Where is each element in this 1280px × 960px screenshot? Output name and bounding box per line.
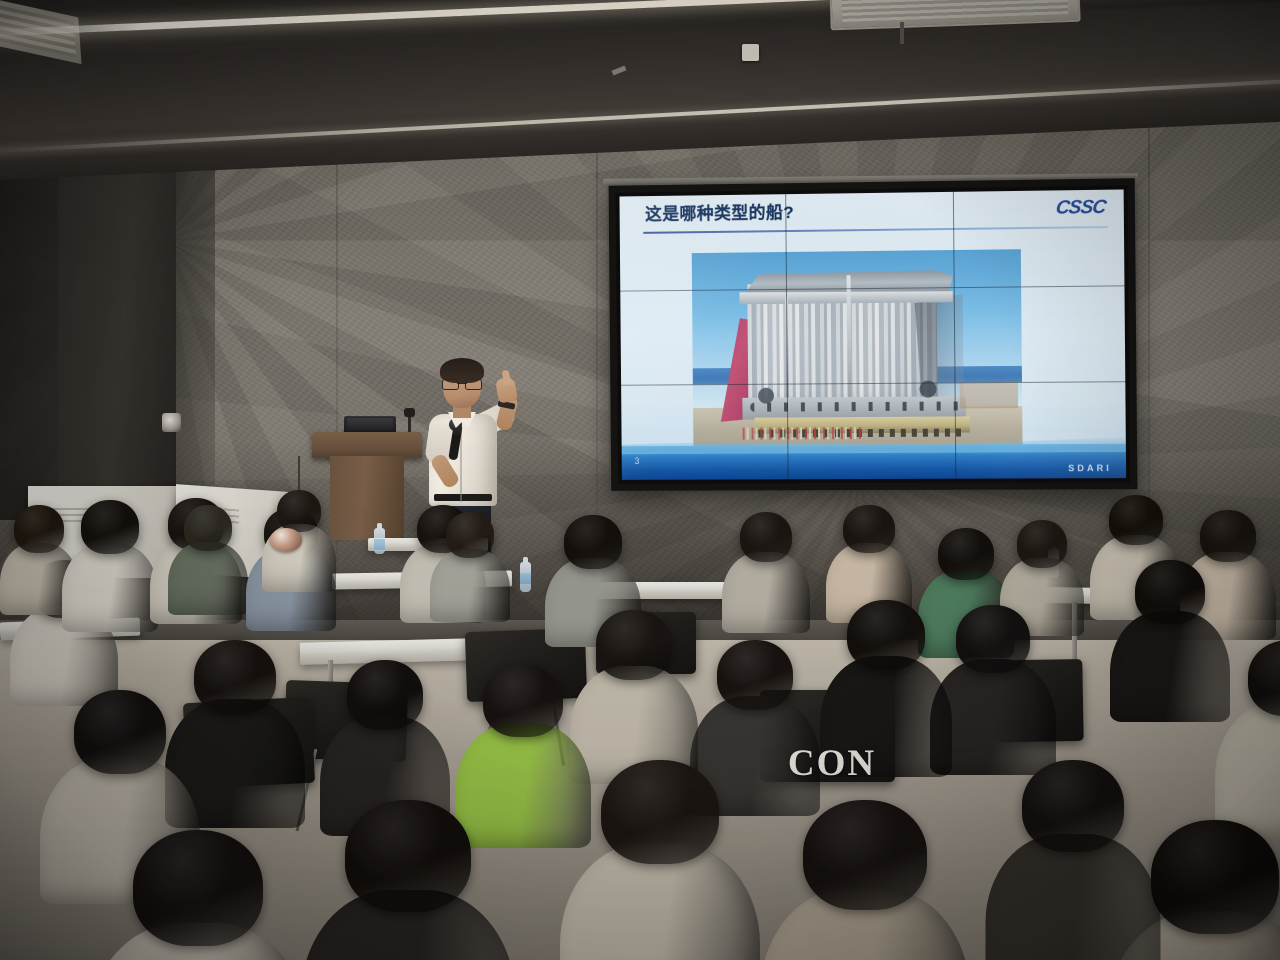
person-head — [740, 512, 792, 562]
bottle-label — [374, 539, 385, 550]
person-head — [847, 600, 925, 670]
slide-page-number: 3 — [634, 456, 639, 466]
lectern-top — [312, 432, 422, 458]
person-head — [194, 640, 276, 714]
glasses-icon — [442, 379, 482, 388]
person-head — [564, 515, 622, 569]
slide-body — [620, 246, 1126, 446]
person-head — [803, 800, 927, 910]
person-head — [1135, 560, 1205, 624]
person-head — [14, 505, 64, 553]
person-head — [345, 800, 471, 912]
wall-pillar — [58, 118, 176, 518]
tshirt-graphic-text: CON — [788, 742, 876, 785]
water-bottle[interactable] — [374, 528, 385, 554]
person-head — [1248, 640, 1280, 716]
audience-member-foreground-left — [300, 800, 515, 960]
person-head — [717, 640, 793, 710]
slide-divider — [643, 226, 1107, 234]
person-head — [483, 665, 563, 737]
podium-microphone-icon — [404, 408, 415, 417]
person-torso — [168, 542, 248, 616]
hull-base-openings — [750, 401, 959, 411]
sdari-brand: SDARI — [1068, 463, 1112, 473]
person-head — [1151, 820, 1279, 934]
bottle-label — [520, 573, 531, 584]
hair-scrunchie — [270, 528, 302, 552]
glasses-bridge — [457, 383, 467, 384]
hull-port-hole — [758, 388, 774, 404]
audience-member-right-dark — [1110, 560, 1230, 744]
audience-member-foreground-dark — [985, 760, 1160, 960]
person-head — [446, 512, 494, 558]
person-head — [81, 500, 139, 554]
person-head — [1017, 520, 1067, 568]
audience-member-foreground-right — [760, 800, 970, 960]
person-torso — [985, 834, 1160, 960]
audience-member-row2-c — [722, 512, 810, 650]
person-head — [184, 505, 232, 551]
person-head — [956, 605, 1030, 673]
slide-footer: 3 SDARI — [622, 444, 1127, 480]
slide-title: 这是哪种类型的船? — [645, 204, 794, 223]
lectern-body — [330, 456, 404, 540]
slide-photo-ship-block — [692, 249, 1023, 460]
audience-member-foreground-far-left — [85, 830, 310, 960]
ac-vent-stem — [900, 22, 904, 44]
ceiling-sensor-icon — [742, 44, 759, 61]
video-wall-display[interactable]: 这是哪种类型的船? CSSC — [609, 178, 1138, 491]
slide-header: 这是哪种类型的船? CSSC — [619, 189, 1124, 251]
water-bottle[interactable] — [520, 562, 531, 592]
person-torso — [430, 549, 510, 623]
person-torso — [62, 543, 158, 631]
video-wall-screen[interactable]: 这是哪种类型的船? CSSC — [619, 189, 1126, 479]
distant-shipyard — [960, 382, 1019, 408]
laptop-screen — [347, 418, 393, 431]
person-head — [938, 528, 994, 580]
lecture-hall-photo: 这是哪种类型的船? CSSC — [0, 0, 1280, 960]
cssc-logo: CSSC — [1054, 197, 1107, 220]
person-head — [74, 690, 166, 774]
person-head — [843, 505, 895, 553]
audience-member-row1-a — [62, 500, 158, 650]
person-head — [1200, 510, 1256, 562]
speaker-icon — [162, 413, 181, 432]
person-torso — [1110, 611, 1230, 721]
person-head — [596, 610, 672, 680]
person-head — [601, 760, 719, 864]
person-head — [1109, 495, 1163, 545]
person-head — [133, 830, 263, 946]
presentation-slide: 这是哪种类型的船? CSSC — [619, 189, 1126, 479]
person-head — [277, 490, 321, 532]
ship-hull-block — [719, 268, 978, 430]
audience-member-green-jacket — [168, 505, 248, 631]
person-torso — [722, 552, 810, 633]
audience-member-row2-b — [430, 512, 510, 638]
person-head — [347, 660, 423, 730]
audience-member-foreground-beige — [560, 760, 760, 960]
person-head — [1022, 760, 1124, 852]
presenter-belt — [434, 494, 492, 501]
shipyard-workers — [743, 427, 862, 440]
person-torso — [1215, 701, 1280, 839]
